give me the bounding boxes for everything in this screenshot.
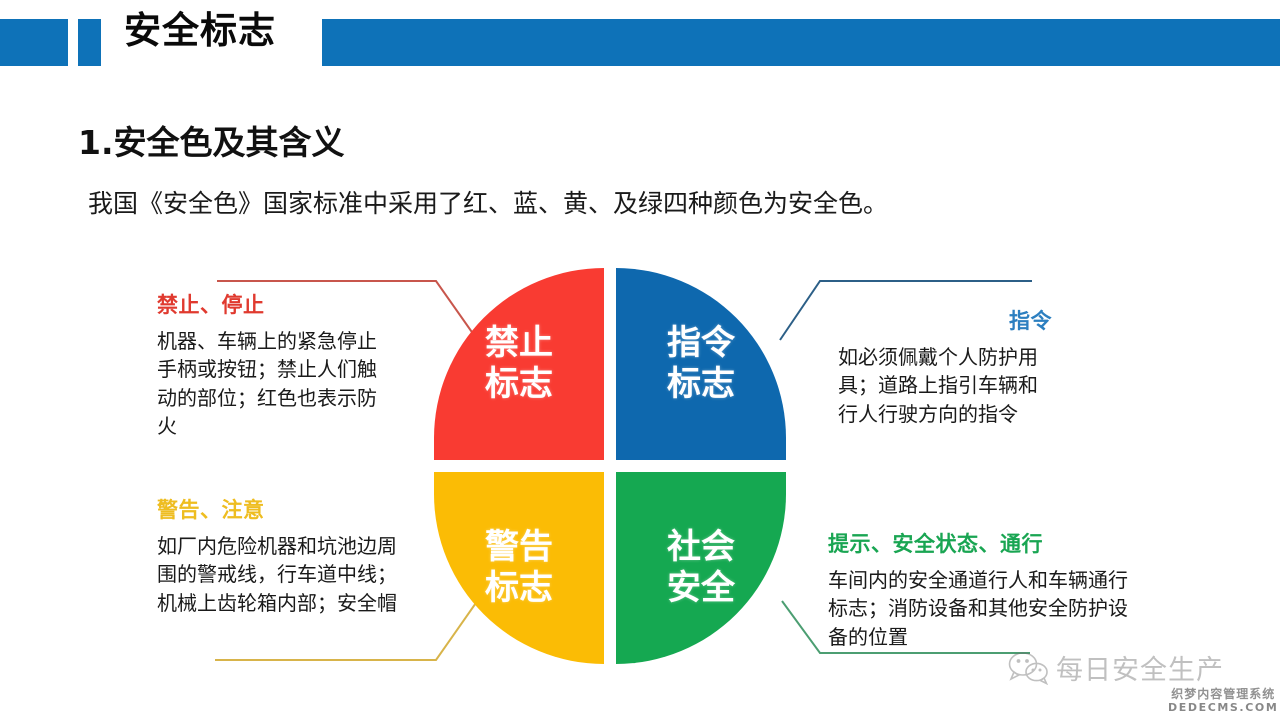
callout-notice: 提示、安全状态、通行 车间内的安全通道行人和车辆通行标志；消防设备和其他安全防护…: [828, 528, 1134, 651]
wheel-quadrant-warning-line1: 警告: [485, 527, 553, 568]
callout-prohibit-title: 禁止、停止: [157, 289, 399, 319]
callout-prohibit-body: 机器、车辆上的紧急停止手柄或按钮；禁止人们触动的部位；红色也表示防火: [157, 327, 391, 441]
wheel-quadrant-prohibit-line1: 禁止: [485, 323, 553, 364]
callout-instruct: 指令 如必须佩戴个人防护用具；道路上指引车辆和行人行驶方向的指令: [838, 305, 1052, 428]
header-bar-segment-right: [322, 19, 1280, 66]
watermark-dedecms-cn: 织梦内容管理系统: [1168, 688, 1278, 702]
watermark-dedecms: 织梦内容管理系统 DEDECMS.COM: [1168, 688, 1278, 714]
callout-warning: 警告、注意 如厂内危险机器和坑池边周围的警戒线，行车道中线；机械上齿轮箱内部；安…: [157, 494, 407, 617]
callout-instruct-title: 指令: [838, 305, 1052, 335]
callout-instruct-body: 如必须佩戴个人防护用具；道路上指引车辆和行人行驶方向的指令: [838, 343, 1050, 428]
page-title: 安全标志: [124, 12, 276, 49]
wheel-quadrant-warning-line2: 标志: [485, 568, 553, 609]
safety-color-wheel: 禁止 标志 指令 标志 警告 标志 社会 安全: [434, 268, 786, 668]
callout-warning-title: 警告、注意: [157, 494, 407, 524]
watermark-wechat-text: 每日安全生产: [1056, 648, 1224, 687]
wheel-quadrant-social-safety-line1: 社会: [667, 527, 735, 568]
wheel-quadrant-prohibit-line2: 标志: [485, 364, 553, 405]
wheel-quadrant-warning[interactable]: 警告 标志: [434, 472, 604, 664]
wechat-icon: [1008, 651, 1048, 685]
watermark-dedecms-en: DEDECMS.COM: [1168, 702, 1278, 715]
watermark-wechat: 每日安全生产: [1008, 648, 1224, 687]
header-bar-segment-left: [0, 19, 68, 66]
callout-notice-title: 提示、安全状态、通行: [828, 528, 1134, 558]
wheel-quadrant-social-safety[interactable]: 社会 安全: [616, 472, 786, 664]
wheel-quadrant-social-safety-line2: 安全: [667, 568, 735, 609]
wheel-quadrant-instruct-line1: 指令: [667, 323, 735, 364]
header-bar-segment-tick: [78, 19, 101, 66]
wheel-quadrant-instruct[interactable]: 指令 标志: [616, 268, 786, 460]
callout-warning-body: 如厂内危险机器和坑池边周围的警戒线，行车道中线；机械上齿轮箱内部；安全帽: [157, 532, 403, 617]
callout-prohibit: 禁止、停止 机器、车辆上的紧急停止手柄或按钮；禁止人们触动的部位；红色也表示防火: [157, 289, 399, 441]
wheel-quadrant-instruct-line2: 标志: [667, 364, 735, 405]
section-heading: 1.安全色及其含义: [78, 116, 345, 164]
callout-notice-body: 车间内的安全通道行人和车辆通行标志；消防设备和其他安全防护设备的位置: [828, 566, 1128, 651]
wheel-quadrant-prohibit[interactable]: 禁止 标志: [434, 268, 604, 460]
section-intro-text: 我国《安全色》国家标准中采用了红、蓝、黄、及绿四种颜色为安全色。: [88, 184, 888, 220]
